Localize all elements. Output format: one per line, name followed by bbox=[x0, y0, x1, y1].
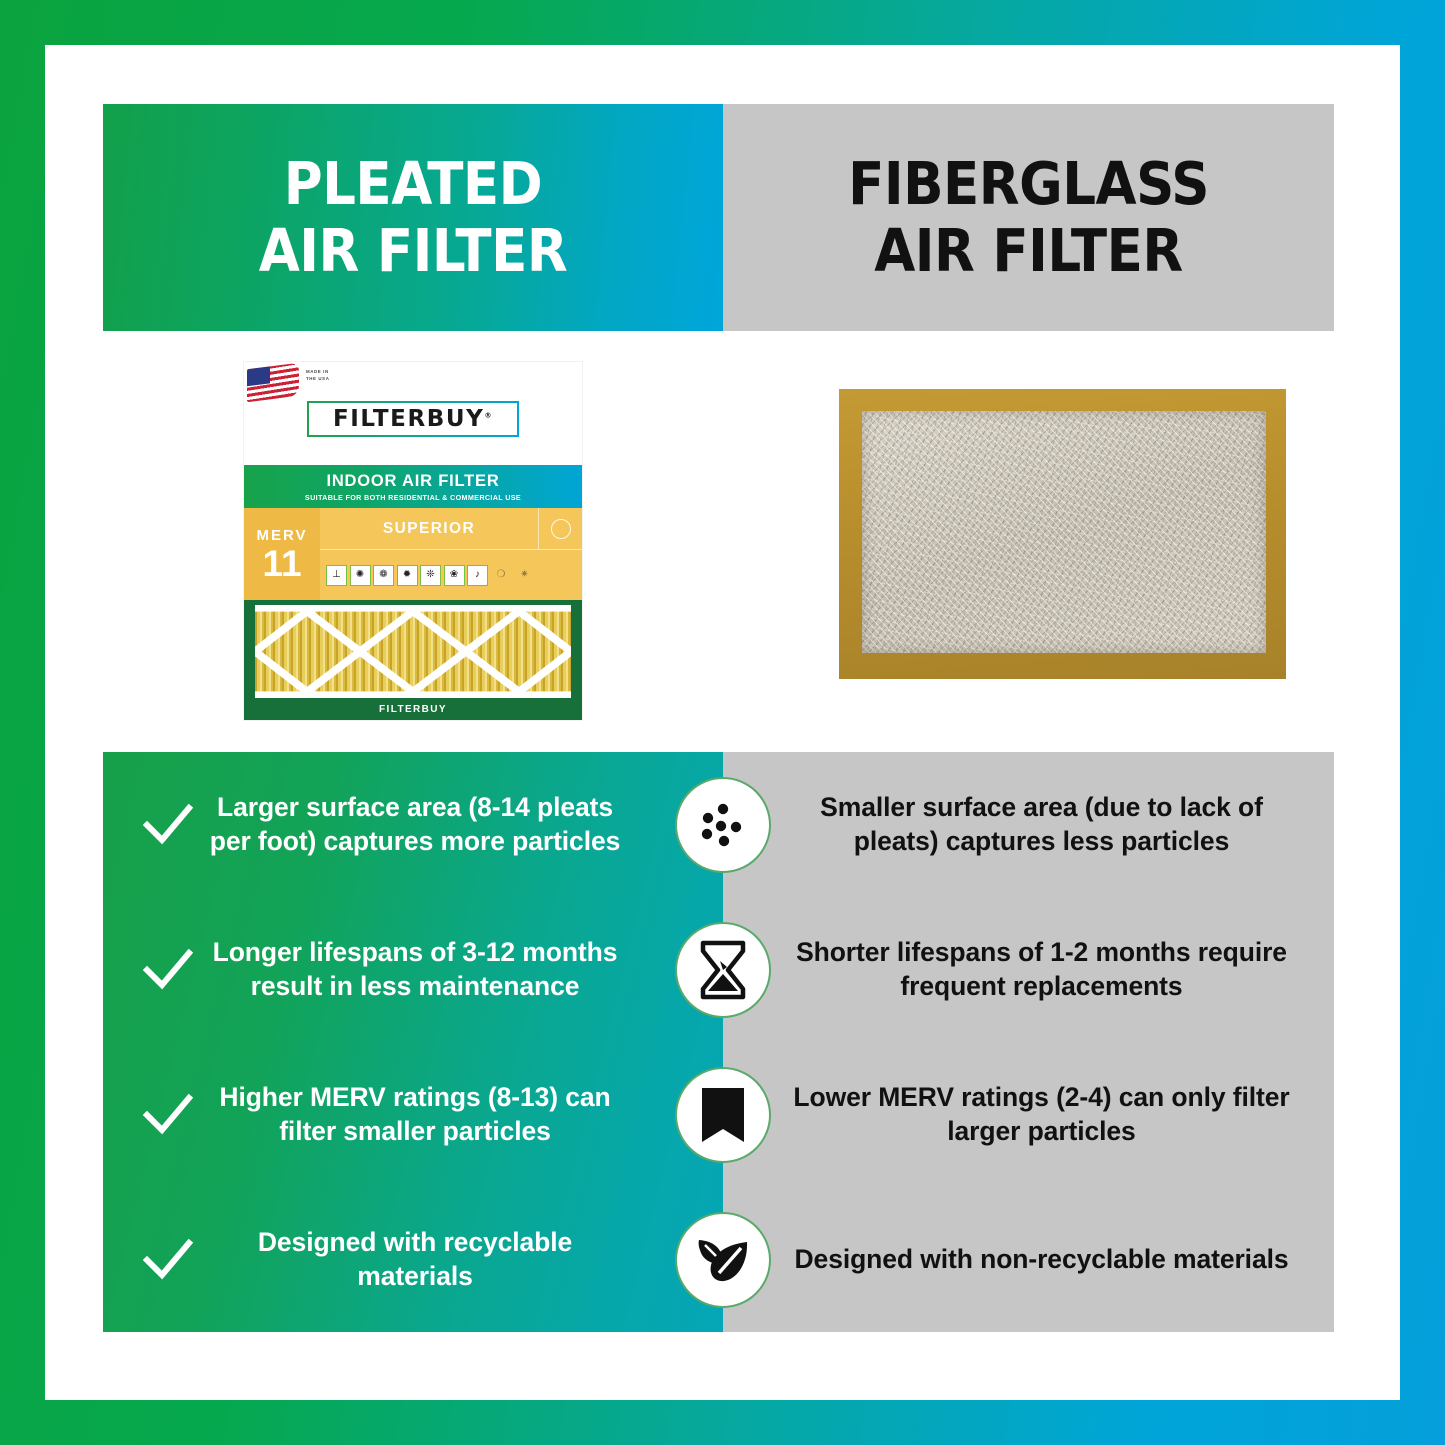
box-top-section: MADE IN THE USA FILTERBUY® bbox=[244, 362, 582, 465]
header-band: PLEATED AIR FILTER FIBERGLASS AIR FILTER bbox=[103, 104, 1334, 331]
comparison-rows: Larger surface area (8-14 pleats per foo… bbox=[103, 752, 1334, 1332]
row2-right-cell: Shorter lifespans of 1-2 months require … bbox=[723, 897, 1334, 1042]
bookmark-icon bbox=[675, 1067, 771, 1163]
tier-label: SUPERIOR bbox=[320, 520, 538, 538]
header-pleated-line2: AIR FILTER bbox=[259, 218, 568, 284]
box-tier-section: SUPERIOR ⊥ ✺ ❁ ✹ ❊ ❀ ♪ ❍ ✷ bbox=[320, 508, 582, 600]
bacteria-icon: ❊ bbox=[420, 565, 441, 586]
odor-icon: ❍ bbox=[491, 565, 512, 586]
leaf-icon bbox=[675, 1212, 771, 1308]
row1-left-cell: Larger surface area (8-14 pleats per foo… bbox=[103, 752, 723, 897]
header-fiberglass: FIBERGLASS AIR FILTER bbox=[723, 104, 1334, 331]
made-in-line2: THE USA bbox=[306, 375, 329, 382]
fiberglass-product-cell bbox=[723, 331, 1334, 752]
comparison-row: Longer lifespans of 3-12 months result i… bbox=[103, 897, 1334, 1042]
header-pleated: PLEATED AIR FILTER bbox=[103, 104, 723, 331]
row3-left-text: Higher MERV ratings (8-13) can filter sm… bbox=[199, 1081, 689, 1148]
merv-badge: MERV 11 bbox=[244, 508, 320, 600]
box-band-title: INDOOR AIR FILTER bbox=[326, 472, 499, 491]
wire-mesh-overlay bbox=[255, 605, 571, 698]
fiberglass-filter-image bbox=[839, 389, 1286, 679]
row2-right-text: Shorter lifespans of 1-2 months require … bbox=[785, 936, 1298, 1003]
box-filter-preview: FILTERBUY bbox=[244, 600, 582, 720]
header-fiberglass-title: FIBERGLASS AIR FILTER bbox=[848, 151, 1209, 283]
made-in-usa-label: MADE IN THE USA bbox=[306, 368, 329, 382]
row3-right-text: Lower MERV ratings (2-4) can only filter… bbox=[785, 1081, 1298, 1148]
row4-left-cell: Designed with recyclable materials bbox=[103, 1187, 723, 1332]
product-images-row: MADE IN THE USA FILTERBUY® INDOOR AIR FI… bbox=[103, 331, 1334, 752]
header-fiberglass-line1: FIBERGLASS bbox=[848, 149, 1209, 218]
check-icon bbox=[137, 948, 199, 992]
header-fiberglass-line2: AIR FILTER bbox=[848, 218, 1209, 284]
infographic-canvas: PLEATED AIR FILTER FIBERGLASS AIR FILTER… bbox=[0, 0, 1445, 1445]
hourglass-icon bbox=[675, 922, 771, 1018]
check-icon bbox=[137, 1238, 199, 1282]
row1-right-cell: Smaller surface area (due to lack of ple… bbox=[723, 752, 1334, 897]
box-merv-section: MERV 11 SUPERIOR ⊥ ✺ ❁ ✹ ❊ bbox=[244, 508, 582, 600]
pollen-icon: ❁ bbox=[373, 565, 394, 586]
merv-label: MERV bbox=[256, 527, 307, 544]
row3-left-cell: Higher MERV ratings (8-13) can filter sm… bbox=[103, 1042, 723, 1187]
row4-right-cell: Designed with non-recyclable materials bbox=[723, 1187, 1334, 1332]
capture-icons-row: ⊥ ✺ ❁ ✹ ❊ ❀ ♪ ❍ ✷ bbox=[320, 550, 582, 600]
usa-flag-icon bbox=[247, 363, 299, 402]
box-footer-brand: FILTERBUY bbox=[244, 698, 582, 720]
dust-mites-icon: ✺ bbox=[350, 565, 371, 586]
brand-logo-frame: FILTERBUY® bbox=[307, 401, 519, 437]
fiberglass-mesh-texture bbox=[862, 411, 1266, 653]
row3-right-cell: Lower MERV ratings (2-4) can only filter… bbox=[723, 1042, 1334, 1187]
comparison-row: Larger surface area (8-14 pleats per foo… bbox=[103, 752, 1334, 897]
row1-right-text: Smaller surface area (due to lack of ple… bbox=[785, 791, 1298, 858]
merv-value: 11 bbox=[262, 546, 301, 581]
row4-right-text: Designed with non-recyclable materials bbox=[795, 1243, 1289, 1276]
check-icon bbox=[137, 803, 199, 847]
box-band-subtitle: SUITABLE FOR BOTH RESIDENTIAL & COMMERCI… bbox=[305, 493, 521, 502]
tier-row: SUPERIOR bbox=[320, 508, 582, 550]
row4-left-text: Designed with recyclable materials bbox=[199, 1226, 689, 1293]
dust-icon: ⊥ bbox=[326, 565, 347, 586]
virus-icon: ✷ bbox=[514, 565, 535, 586]
brand-name: FILTERBUY® bbox=[333, 406, 493, 432]
row2-left-cell: Longer lifespans of 3-12 months result i… bbox=[103, 897, 723, 1042]
particles-icon bbox=[675, 777, 771, 873]
box-gradient-band: INDOOR AIR FILTER SUITABLE FOR BOTH RESI… bbox=[244, 465, 582, 508]
header-pleated-title: PLEATED AIR FILTER bbox=[259, 151, 568, 283]
header-pleated-line1: PLEATED bbox=[284, 149, 543, 218]
pet-dander-icon: ❀ bbox=[444, 565, 465, 586]
comparison-row: Higher MERV ratings (8-13) can filter sm… bbox=[103, 1042, 1334, 1187]
pleated-product-cell: MADE IN THE USA FILTERBUY® INDOOR AIR FI… bbox=[103, 331, 723, 752]
comparison-section: Larger surface area (8-14 pleats per foo… bbox=[103, 752, 1334, 1332]
mold-spores-icon: ✹ bbox=[397, 565, 418, 586]
comparison-row: Designed with recyclable materials Desig… bbox=[103, 1187, 1334, 1332]
row1-left-text: Larger surface area (8-14 pleats per foo… bbox=[199, 791, 689, 858]
filterbuy-box-image: MADE IN THE USA FILTERBUY® INDOOR AIR FI… bbox=[244, 362, 582, 720]
smoke-icon: ♪ bbox=[467, 565, 488, 586]
ul-seal-icon bbox=[538, 508, 582, 549]
row2-left-text: Longer lifespans of 3-12 months result i… bbox=[199, 936, 689, 1003]
made-in-line1: MADE IN bbox=[306, 368, 329, 375]
check-icon bbox=[137, 1093, 199, 1137]
